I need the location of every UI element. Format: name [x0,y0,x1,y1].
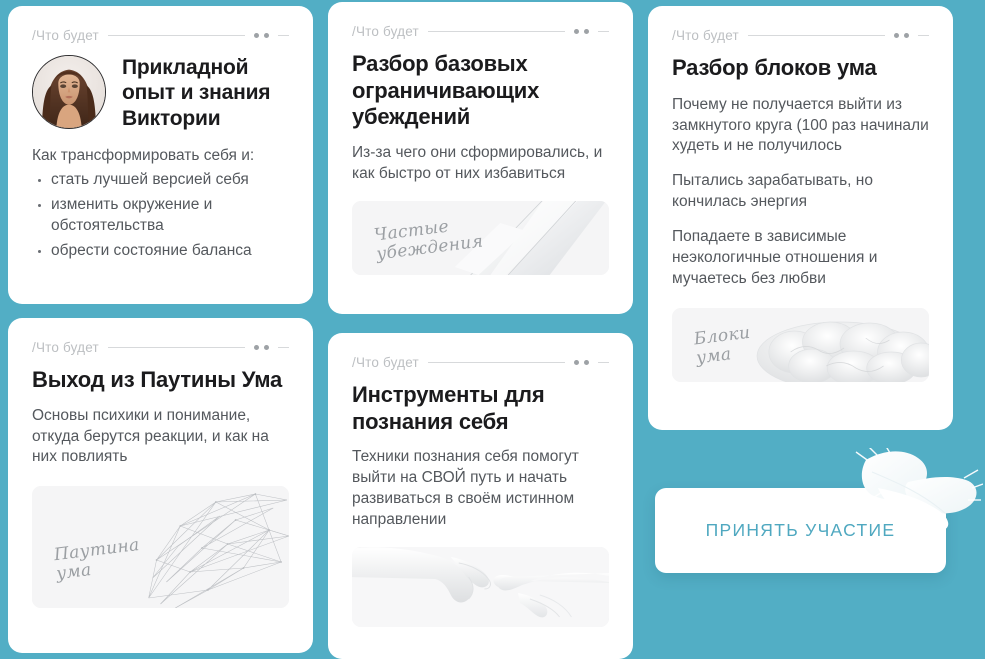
card-mind-web-exit[interactable]: /Что будет Выход из Паутины Ума Основы п… [8,318,313,653]
card-eyebrow: /Что будет [672,28,929,42]
card-title: Прикладной опыт и знания Виктории [122,55,289,131]
benefits-list: стать лучшей версией себя изменить окруж… [32,170,289,261]
card-title: Инструменты для познания себя [352,382,609,435]
eyebrow-rule [748,35,885,36]
media-stacked-white-paper: Частые убеждения [352,201,609,275]
card-eyebrow: /Что будет [32,340,289,354]
eyebrow-label: /Что будет [352,355,419,370]
eyebrow-tail-rule [598,31,609,32]
media-wireframe-mesh-brain: Паутина ума [32,486,289,608]
avatar-title-row: Прикладной опыт и знания Виктории [32,55,289,131]
eyebrow-dots-icon [254,345,269,350]
list-item: стать лучшей версией себя [32,170,289,191]
eyebrow-tail-rule [278,347,289,348]
eyebrow-rule [428,31,565,32]
eyebrow-rule [428,362,565,363]
eyebrow-dots-icon [574,360,589,365]
media-white-brain: Блоки ума [672,308,929,382]
media-script-caption: Блоки ума [693,324,754,369]
participate-button[interactable]: ПРИНЯТЬ УЧАСТИЕ [655,488,946,573]
card-mind-blocks[interactable]: /Что будет Разбор блоков ума Почему не п… [648,6,953,430]
eyebrow-dots-icon [254,33,269,38]
card-paragraphs: Почему не получается выйти из замкнутого… [672,95,929,290]
eyebrow-rule [108,35,245,36]
eyebrow-tail-rule [598,362,609,363]
paragraph: Пытались зарабатывать, но кончилась энер… [672,171,929,213]
list-item: изменить окружение и обстоятельства [32,195,289,237]
card-title: Разбор блоков ума [672,55,929,82]
eyebrow-tail-rule [278,35,289,36]
eyebrow-label: /Что будет [32,28,99,43]
paragraph: Почему не получается выйти из замкнутого… [672,95,929,158]
card-limiting-beliefs[interactable]: /Что будет Разбор базовых ограничивающих… [328,2,633,314]
card-applied-experience[interactable]: /Что будет [8,6,313,304]
card-intro-text: Как трансформировать себя и: [32,146,289,166]
eyebrow-label: /Что будет [672,28,739,43]
card-body-text: Техники познания себя помогут выйти на С… [352,447,609,531]
eyebrow-label: /Что будет [352,24,419,39]
paragraph: Попадаете в зависимые неэкологичные отно… [672,227,929,290]
eyebrow-dots-icon [894,33,909,38]
avatar [32,55,106,129]
card-title: Выход из Паутины Ума [32,367,289,394]
card-eyebrow: /Что будет [352,355,609,369]
card-body-text: Основы психики и понимание, откуда берут… [32,406,289,469]
participate-button-label: ПРИНЯТЬ УЧАСТИЕ [706,520,896,541]
eyebrow-label: /Что будет [32,340,99,355]
eyebrow-rule [108,347,245,348]
eyebrow-tail-rule [918,35,929,36]
list-item: обрести состояние баланса [32,241,289,262]
card-eyebrow: /Что будет [352,24,609,38]
card-self-knowledge-tools[interactable]: /Что будет Инструменты для познания себя… [328,333,633,659]
card-body-text: Из-за чего они сформировались, и как быс… [352,143,609,185]
media-reaching-hands [352,547,609,627]
card-title: Разбор базовых ограничивающих убеждений [352,51,609,131]
promo-cards-board: /Что будет [0,0,985,659]
card-eyebrow: /Что будет [32,28,289,42]
eyebrow-dots-icon [574,29,589,34]
